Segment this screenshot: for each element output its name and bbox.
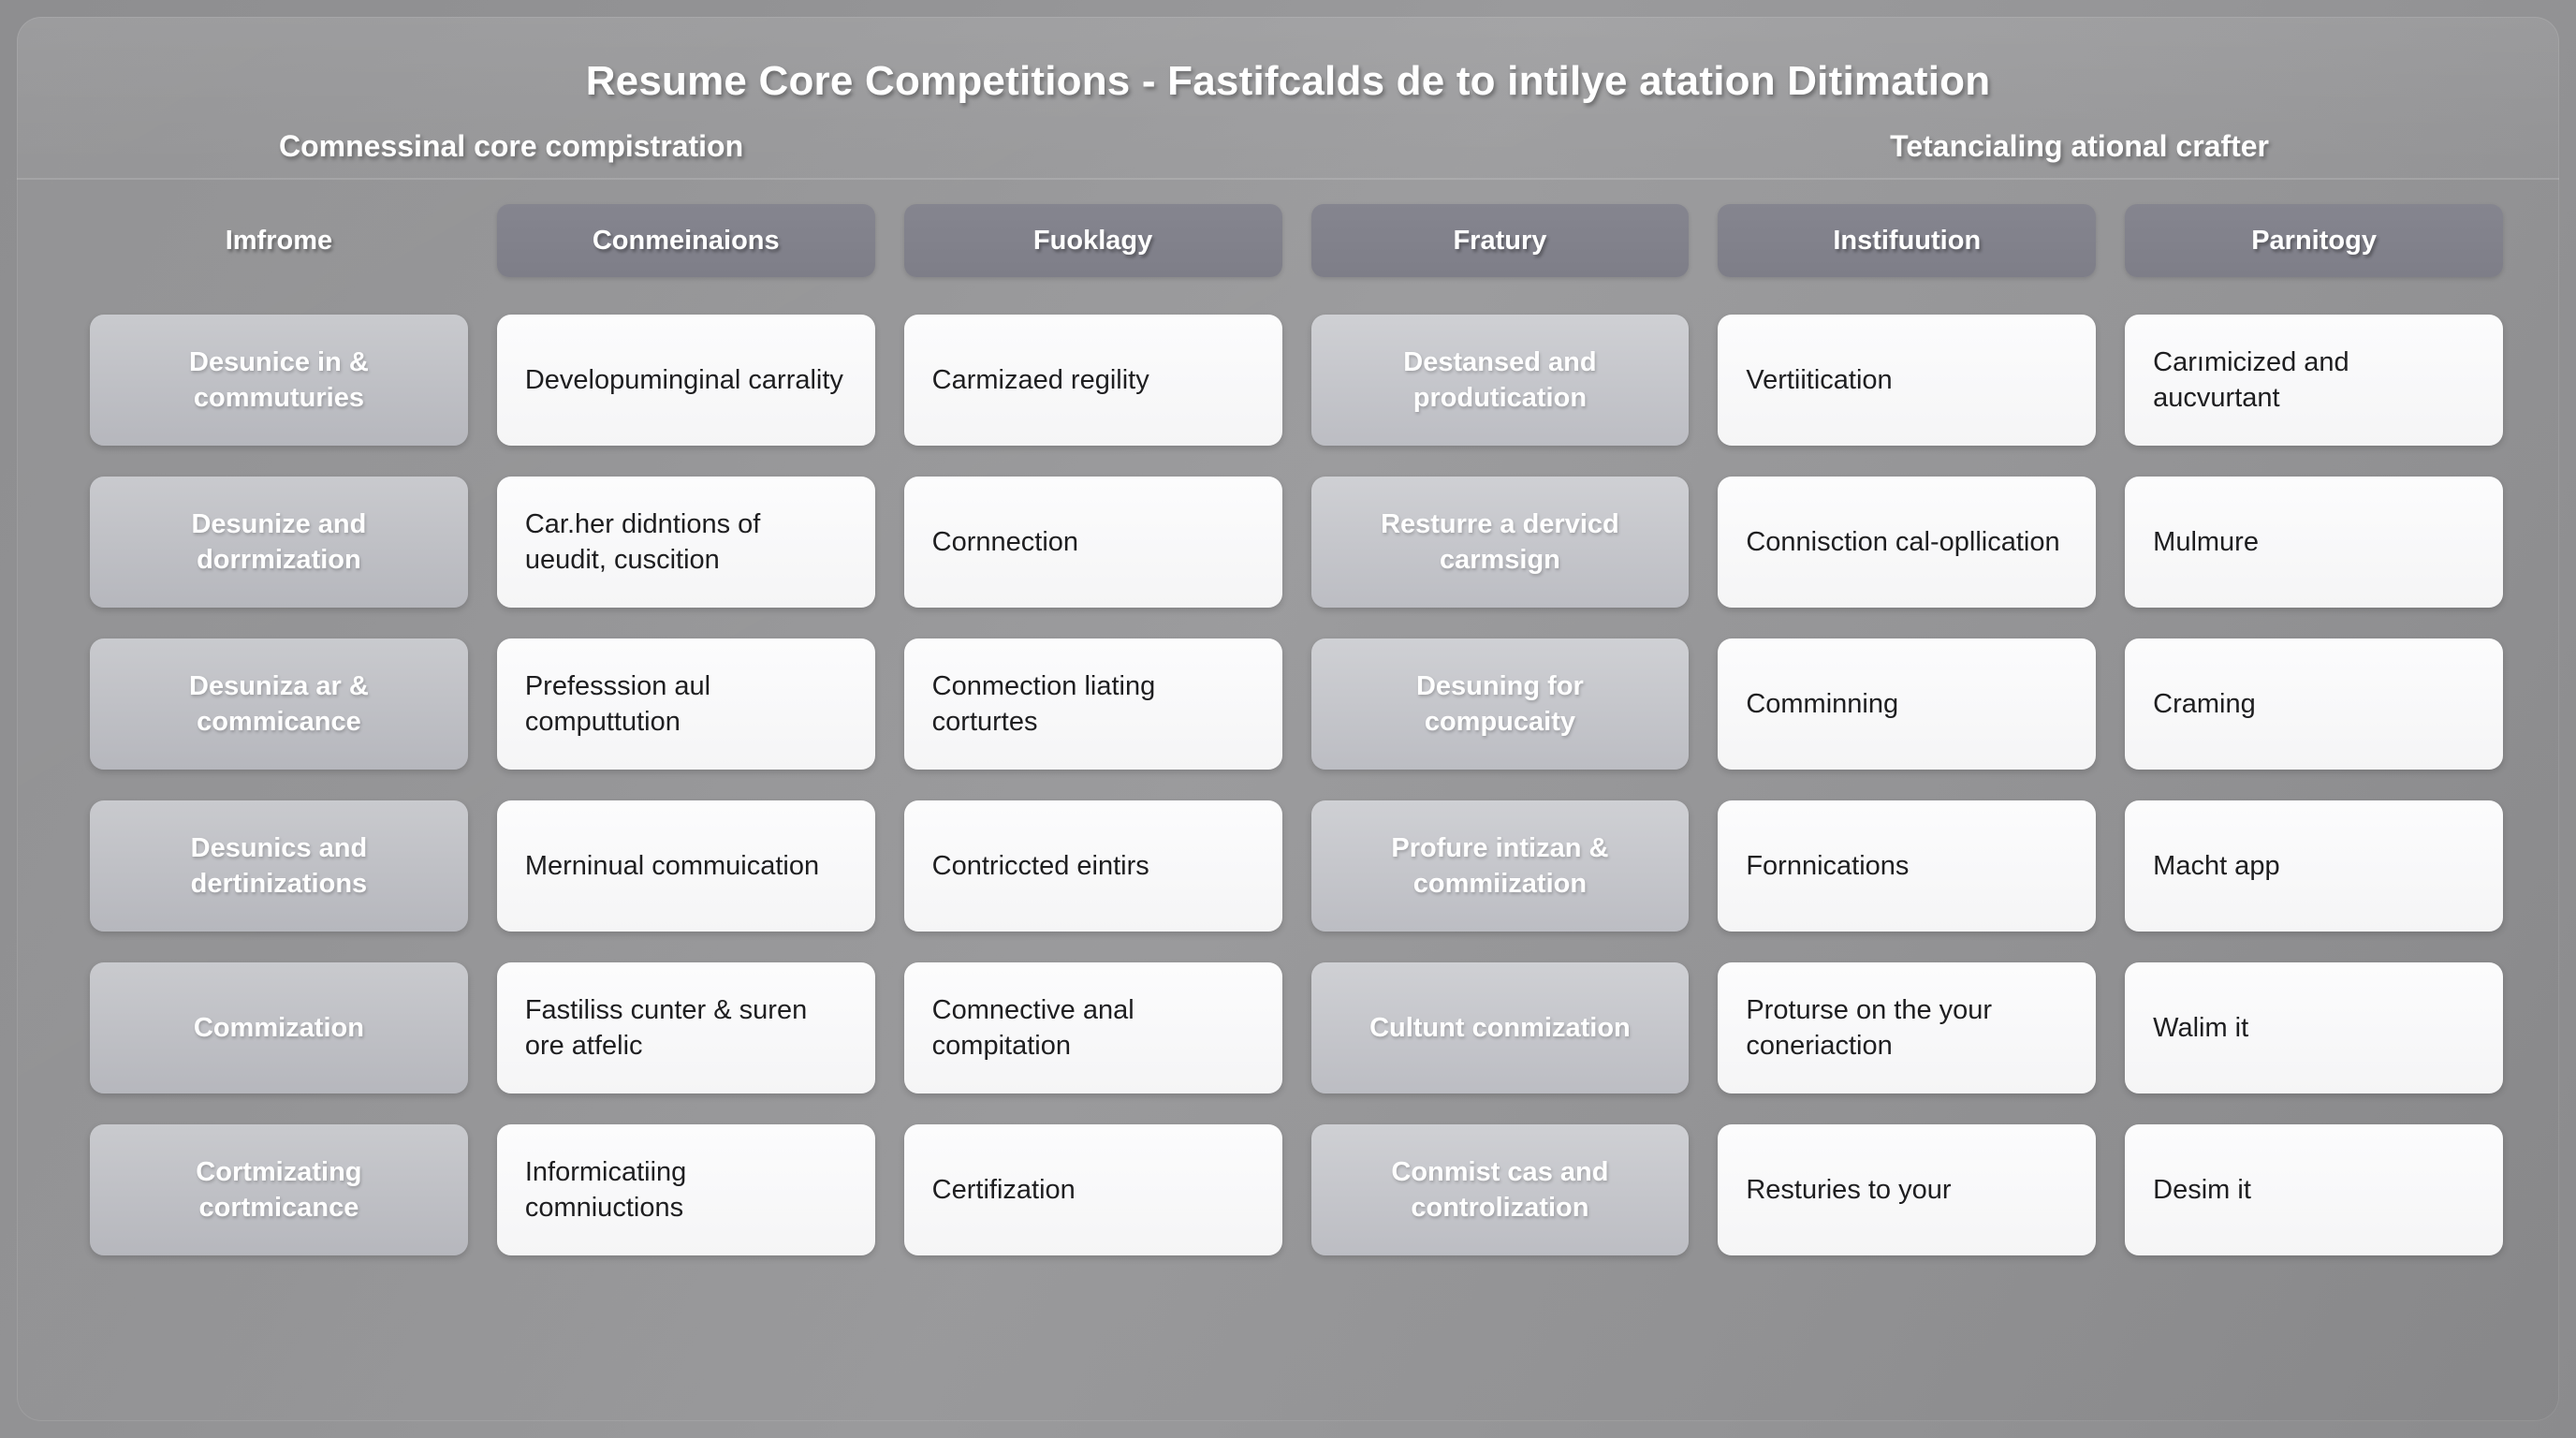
cell-c1-r1[interactable]: Desunice in & commuturies xyxy=(90,315,468,446)
cell-c1-r5[interactable]: Commization xyxy=(90,962,468,1093)
page-root: Resume Core Competitions - Fastifcalds d… xyxy=(0,0,2576,1438)
cell-c1-r6[interactable]: Cortmizating cortmicance xyxy=(90,1124,468,1255)
cell-c2-r6[interactable]: Informicatiing comniuctions xyxy=(497,1124,875,1255)
header-band: Resume Core Competitions - Fastifcalds d… xyxy=(17,17,2559,180)
cell-c6-r3[interactable]: Craming xyxy=(2125,638,2503,770)
cell-c4-r5[interactable]: Cultunt conmization xyxy=(1311,962,1690,1093)
column-6: ParnitogyCarımicized and aucvurtantMulmu… xyxy=(2125,204,2503,1286)
cell-c5-r1[interactable]: Vertiitication xyxy=(1718,315,2096,446)
cell-c3-r3[interactable]: Conmection liating corturtes xyxy=(904,638,1282,770)
cell-c1-r3[interactable]: Desuniza ar & commicance xyxy=(90,638,468,770)
subtitle-right: Tetancialing ational crafter xyxy=(1890,129,2297,164)
cell-c3-r6[interactable]: Certifization xyxy=(904,1124,1282,1255)
cell-c4-r4[interactable]: Profure intizan & commiization xyxy=(1311,800,1690,932)
column-header-2[interactable]: Conmeinaions xyxy=(497,204,875,277)
subtitle-row: Comnessinal core compistration Tetancial… xyxy=(17,129,2559,164)
cell-c2-r4[interactable]: Merninual commuication xyxy=(497,800,875,932)
cell-c3-r1[interactable]: Carmizaed regility xyxy=(904,315,1282,446)
cell-c6-r2[interactable]: Mulmure xyxy=(2125,477,2503,608)
cell-c5-r3[interactable]: Comminning xyxy=(1718,638,2096,770)
subtitle-left: Comnessinal core compistration xyxy=(279,129,743,164)
page-title: Resume Core Competitions - Fastifcalds d… xyxy=(17,58,2559,105)
cell-c2-r3[interactable]: Prefesssion aul computtution xyxy=(497,638,875,770)
column-header-6[interactable]: Parnitogy xyxy=(2125,204,2503,277)
cell-c6-r1[interactable]: Carımicized and aucvurtant xyxy=(2125,315,2503,446)
cell-c1-r4[interactable]: Desunics and dertinizations xyxy=(90,800,468,932)
column-1: ImfromeDesunice in & commuturiesDesunize… xyxy=(90,204,468,1286)
column-3: FuoklagyCarmizaed regilityCornnectionCon… xyxy=(904,204,1282,1286)
column-header-5[interactable]: Instifuution xyxy=(1718,204,2096,277)
column-header-3[interactable]: Fuoklagy xyxy=(904,204,1282,277)
cell-c6-r6[interactable]: Desim it xyxy=(2125,1124,2503,1255)
cell-c5-r2[interactable]: Connisction cal-opllication xyxy=(1718,477,2096,608)
cell-c1-r2[interactable]: Desunize and dorrmization xyxy=(90,477,468,608)
column-2: ConmeinaionsDevelopuminginal carralityCa… xyxy=(497,204,875,1286)
cell-c6-r4[interactable]: Macht app xyxy=(2125,800,2503,932)
cell-c4-r3[interactable]: Desuning for compucaity xyxy=(1311,638,1690,770)
cell-c3-r2[interactable]: Cornnection xyxy=(904,477,1282,608)
cell-c6-r5[interactable]: Walim it xyxy=(2125,962,2503,1093)
column-header-1[interactable]: Imfrome xyxy=(90,204,468,277)
cell-c5-r5[interactable]: Proturse on the your coneriaction xyxy=(1718,962,2096,1093)
cell-c2-r5[interactable]: Fastiliss cunter & suren ore atfelic xyxy=(497,962,875,1093)
column-5: InstifuutionVertiiticationConnisction ca… xyxy=(1718,204,2096,1286)
competency-grid: ImfromeDesunice in & commuturiesDesunize… xyxy=(90,204,2503,1286)
cell-c4-r2[interactable]: Resturre a dervicd carmsign xyxy=(1311,477,1690,608)
cell-c4-r6[interactable]: Conmist cas and controlization xyxy=(1311,1124,1690,1255)
cell-c3-r4[interactable]: Contriccted eintirs xyxy=(904,800,1282,932)
cell-c2-r2[interactable]: Car.her didntions of ueudit, cuscition xyxy=(497,477,875,608)
cell-c2-r1[interactable]: Developuminginal carrality xyxy=(497,315,875,446)
column-4: FraturyDestansed and produticationRestur… xyxy=(1311,204,1690,1286)
cell-c5-r6[interactable]: Resturies to your xyxy=(1718,1124,2096,1255)
cell-c5-r4[interactable]: Fornnications xyxy=(1718,800,2096,932)
column-header-4[interactable]: Fratury xyxy=(1311,204,1690,277)
cell-c3-r5[interactable]: Comnective anal compitation xyxy=(904,962,1282,1093)
cell-c4-r1[interactable]: Destansed and produtication xyxy=(1311,315,1690,446)
